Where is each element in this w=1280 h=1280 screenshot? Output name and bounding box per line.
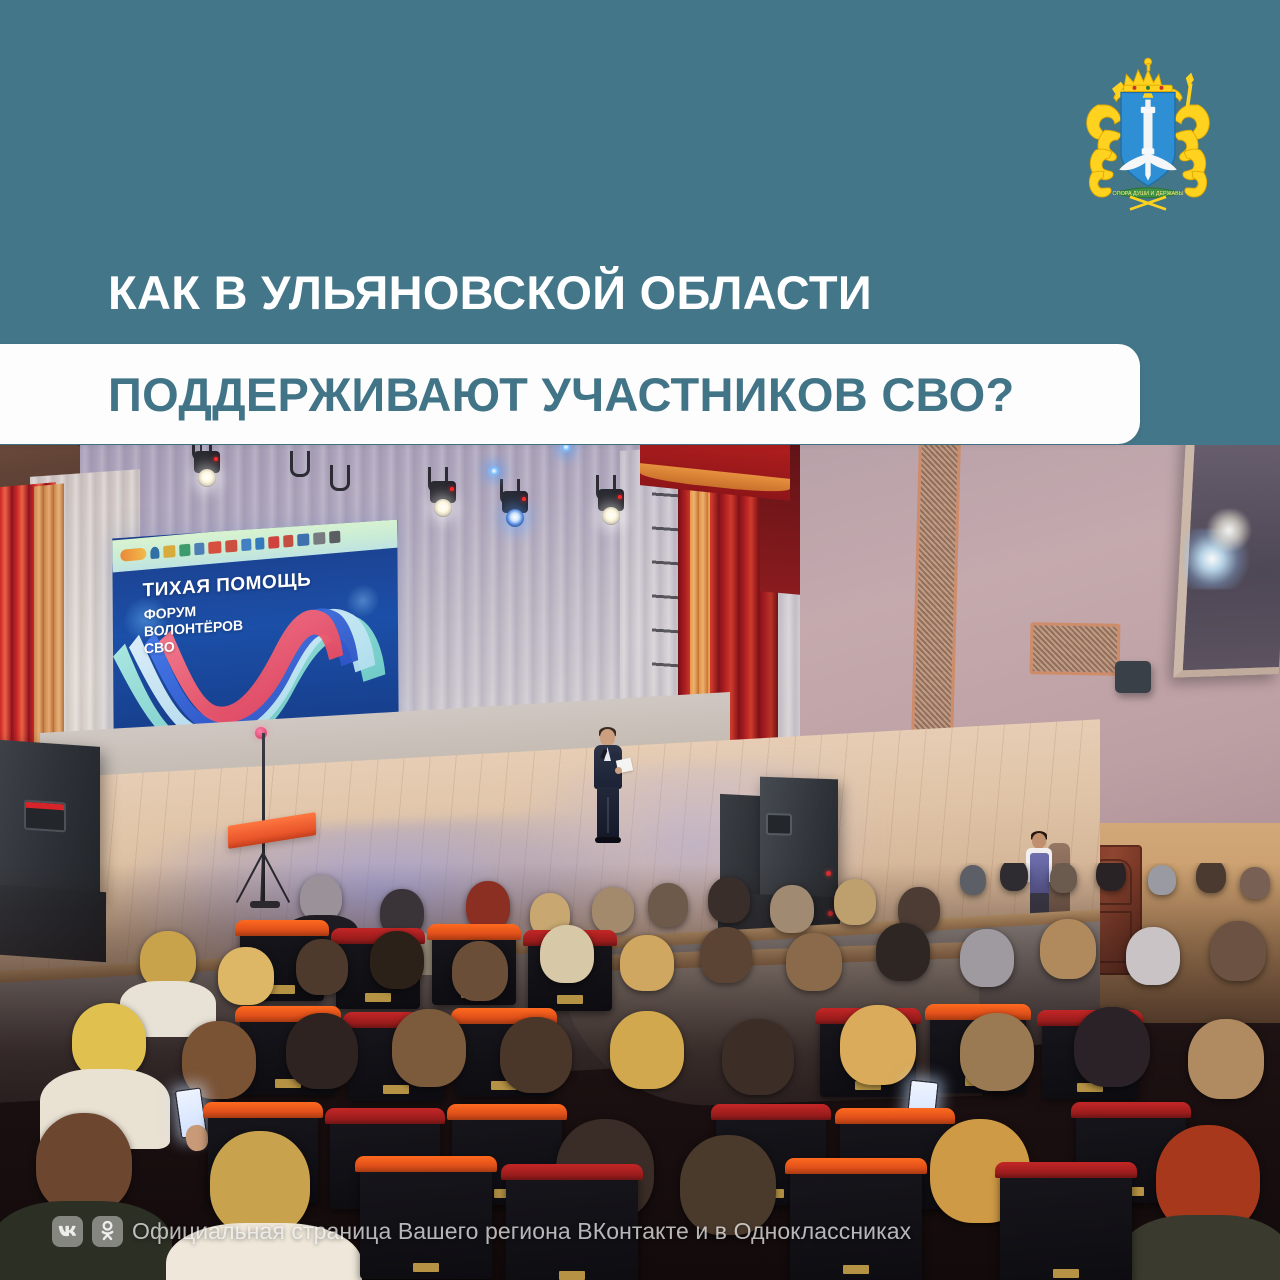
footer-watermark: Официальная страница Вашего региона ВКон… bbox=[52, 1214, 911, 1248]
audience-head bbox=[370, 931, 424, 989]
audience-head bbox=[722, 1019, 794, 1095]
headline-line-1: КАК В УЛЬЯНОВСКОЙ ОБЛАСТИ bbox=[108, 258, 1168, 328]
light-hook bbox=[330, 465, 350, 491]
emblem-motto: ОПОРА ДУШИ И ДЕРЖАВЫ bbox=[1113, 191, 1184, 197]
theater-seat[interactable] bbox=[1000, 1167, 1132, 1280]
audience-head bbox=[700, 927, 752, 983]
audience-head bbox=[1210, 921, 1266, 981]
audience-head bbox=[960, 929, 1014, 987]
audience-head bbox=[296, 939, 348, 995]
audience-head bbox=[1188, 1019, 1264, 1099]
audience-head bbox=[1074, 1007, 1150, 1087]
audience-head bbox=[286, 1013, 358, 1089]
audience-head bbox=[840, 1005, 916, 1085]
audience-head bbox=[876, 923, 930, 981]
audience-head bbox=[648, 883, 688, 927]
audience-head bbox=[960, 865, 986, 895]
audience-head bbox=[36, 1113, 132, 1213]
audience-head bbox=[392, 1009, 466, 1087]
audience-head bbox=[1040, 919, 1096, 979]
audience-head bbox=[1096, 863, 1126, 891]
audience-shoulders bbox=[1120, 1215, 1280, 1280]
presenter-speaker bbox=[586, 729, 630, 843]
audience-head bbox=[500, 1017, 572, 1093]
audience-head bbox=[1240, 867, 1270, 899]
wall-mounted-speaker bbox=[1115, 661, 1151, 693]
audience-head bbox=[452, 941, 508, 1001]
headline-line-2: ПОДДЕРЖИВАЮТ УЧАСТНИКОВ СВО? bbox=[108, 360, 1168, 430]
audience-head bbox=[1196, 863, 1226, 893]
poster-root: ОПОРА ДУШИ И ДЕРЖАВЫ КАК В УЛЬЯНОВСКОЙ О… bbox=[0, 0, 1280, 1280]
audience-head bbox=[218, 947, 274, 1005]
audience-head bbox=[834, 879, 876, 925]
audience-head bbox=[786, 933, 842, 991]
screen-subtitle: ФОРУМ ВОЛОНТЁРОВ СВО bbox=[144, 600, 244, 658]
moving-head-light-blue bbox=[502, 491, 528, 527]
event-photograph: ТИХАЯ ПОМОЩЬ ФОРУМ ВОЛОНТЁРОВ СВО bbox=[0, 433, 1280, 1280]
audience-head bbox=[182, 1021, 256, 1099]
vk-icon[interactable] bbox=[52, 1216, 83, 1247]
audience-head bbox=[540, 925, 594, 983]
audience-head bbox=[770, 885, 814, 933]
audience-head bbox=[72, 1003, 146, 1079]
audience-head bbox=[620, 935, 674, 991]
audience-head bbox=[1050, 863, 1077, 893]
microphone-head bbox=[255, 727, 267, 739]
audience-head bbox=[1000, 863, 1028, 891]
moving-head-light bbox=[598, 489, 624, 525]
moving-head-light bbox=[430, 481, 456, 517]
light-hook bbox=[290, 451, 310, 477]
ok-icon[interactable] bbox=[92, 1216, 123, 1247]
wall-vent-grille-tall bbox=[911, 441, 961, 742]
audience-head bbox=[592, 887, 634, 933]
audience-head bbox=[1148, 865, 1176, 895]
audience-head bbox=[610, 1011, 684, 1089]
audience-head bbox=[1126, 927, 1180, 985]
coat-of-arms-emblem-icon: ОПОРА ДУШИ И ДЕРЖАВЫ bbox=[1058, 42, 1238, 222]
blue-indicator-light bbox=[488, 465, 500, 477]
moving-head-light bbox=[194, 451, 220, 487]
wall-vent-grille-small bbox=[1030, 622, 1121, 676]
audience-head bbox=[960, 1013, 1034, 1091]
audience-head bbox=[708, 877, 750, 923]
window-light-glare-secondary bbox=[1205, 509, 1253, 551]
footer-text: Официальная страница Вашего региона ВКон… bbox=[132, 1218, 911, 1245]
